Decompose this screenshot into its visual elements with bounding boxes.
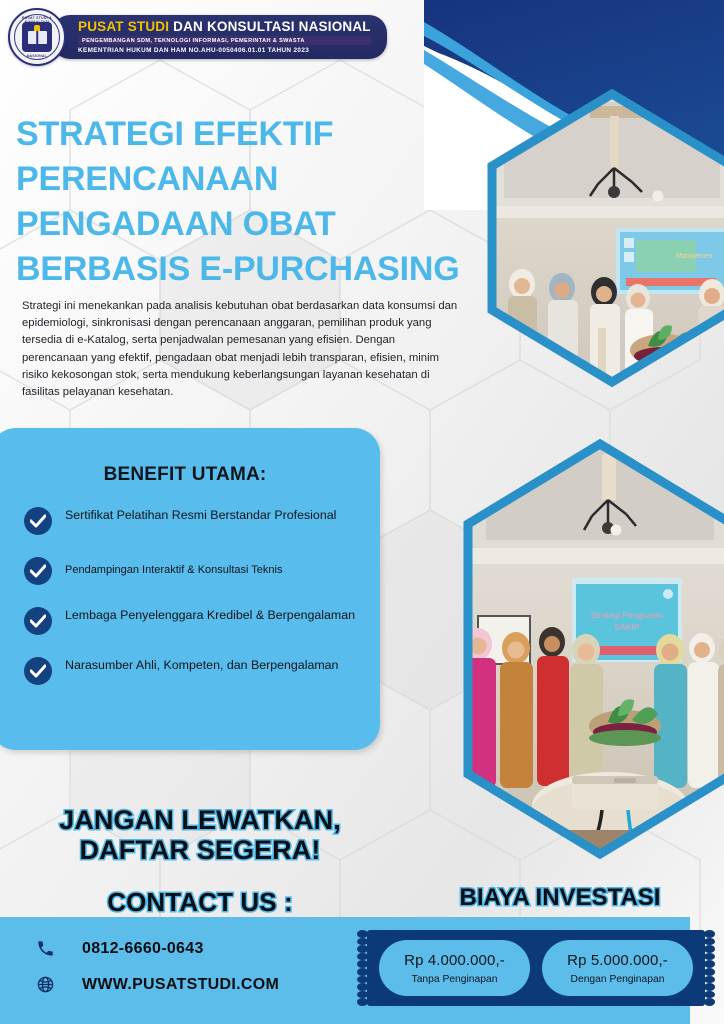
- logo-ring-bottom-text: NASIONAL: [10, 54, 64, 58]
- photo-training-group-top: Manajemen: [486, 88, 724, 388]
- check-circle-icon: [24, 507, 52, 535]
- price-option[interactable]: Rp 5.000.000,- Dengan Penginapan: [542, 940, 693, 996]
- brand-header: PUSAT STUDI & KONSULTASI NASIONAL PUSAT …: [8, 8, 387, 66]
- poster-title-line-2: PERENCANAAN: [16, 157, 486, 202]
- brand-subtitle-1: PENGEMBANGAN SDM, TEKNOLOGI INFORMASI, P…: [78, 36, 371, 45]
- organization-logo: PUSAT STUDI & KONSULTASI NASIONAL: [8, 8, 66, 66]
- description-paragraph: Strategi ini menekankan pada analisis ke…: [22, 298, 462, 401]
- svg-text:SAKIP: SAKIP: [614, 622, 639, 632]
- globe-icon: [30, 975, 60, 994]
- investment-ticket: Rp 4.000.000,- Tanpa Penginapan Rp 5.000…: [357, 930, 715, 1006]
- check-circle-icon: [24, 607, 52, 635]
- svg-text:Manajemen: Manajemen: [676, 253, 713, 260]
- benefit-item: Sertifikat Pelatihan Resmi Berstandar Pr…: [24, 506, 380, 535]
- poster-title: STRATEGI EFEKTIF PERENCANAAN PENGADAAN O…: [16, 112, 486, 292]
- benefit-item-label: Pendampingan Interaktif & Konsultasi Tek…: [65, 556, 282, 579]
- cta-line-1: JANGAN LEWATKAN,: [0, 805, 400, 835]
- brand-banner: PUSAT STUDI DAN KONSULTASI NASIONAL PENG…: [52, 15, 387, 59]
- benefit-item: Lembaga Penyelenggara Kredibel & Berpeng…: [24, 606, 380, 635]
- check-circle-icon: [24, 557, 52, 585]
- benefit-item: Pendampingan Interaktif & Konsultasi Tek…: [24, 556, 380, 585]
- benefit-item-label: Lembaga Penyelenggara Kredibel & Berpeng…: [65, 606, 355, 624]
- phone-number: 0812-6660-0643: [82, 940, 204, 958]
- investment-heading: BIAYA INVESTASI: [430, 884, 690, 912]
- poster-title-line-4: BERBASIS E-PURCHASING: [16, 247, 486, 292]
- benefits-list: Sertifikat Pelatihan Resmi Berstandar Pr…: [24, 506, 380, 685]
- check-circle-icon: [24, 657, 52, 685]
- poster-title-line-1: STRATEGI EFEKTIF: [16, 112, 486, 157]
- price-label: Tanpa Penginapan: [412, 974, 498, 985]
- benefit-item-label: Narasumber Ahli, Kompeten, dan Berpengal…: [65, 656, 338, 674]
- price-amount: Rp 4.000.000,-: [404, 952, 505, 969]
- cta-line-2: DAFTAR SEGERA!: [0, 835, 400, 865]
- logo-emblem: [22, 22, 52, 52]
- ticket-price-options: Rp 4.000.000,- Tanpa Penginapan Rp 5.000…: [357, 930, 715, 1006]
- call-to-action: JANGAN LEWATKAN, DAFTAR SEGERA! CONTACT …: [0, 805, 400, 917]
- website-url: WWW.PUSATSTUDI.COM: [82, 976, 279, 994]
- phone-icon: [30, 939, 60, 958]
- price-option[interactable]: Rp 4.000.000,- Tanpa Penginapan: [379, 940, 530, 996]
- benefits-card: BENEFIT UTAMA: Sertifikat Pelatihan Resm…: [0, 428, 380, 750]
- poster-root: Manajemen: [0, 0, 724, 1024]
- poster-title-line-3: PENGADAAN OBAT: [16, 202, 486, 247]
- brand-title-highlight: PUSAT STUDI: [78, 19, 169, 34]
- contact-us-heading: CONTACT US :: [0, 887, 400, 917]
- benefits-heading: BENEFIT UTAMA:: [0, 464, 380, 486]
- price-label: Dengan Penginapan: [571, 974, 665, 985]
- price-amount: Rp 5.000.000,-: [567, 952, 668, 969]
- benefit-item-label: Sertifikat Pelatihan Resmi Berstandar Pr…: [65, 506, 336, 524]
- logo-book-icon: [28, 31, 47, 44]
- brand-subtitle-2: KEMENTRIAN HUKUM DAN HAM NO.AHU-0050406.…: [78, 47, 371, 54]
- benefit-item: Narasumber Ahli, Kompeten, dan Berpengal…: [24, 656, 380, 685]
- brand-title-rest: DAN KONSULTASI NASIONAL: [169, 19, 371, 34]
- brand-title: PUSAT STUDI DAN KONSULTASI NASIONAL: [78, 19, 371, 34]
- photo-training-group-bottom: Strategi Penguatan SAKIP: [462, 438, 724, 860]
- svg-text:Strategi Penguatan: Strategi Penguatan: [591, 610, 664, 620]
